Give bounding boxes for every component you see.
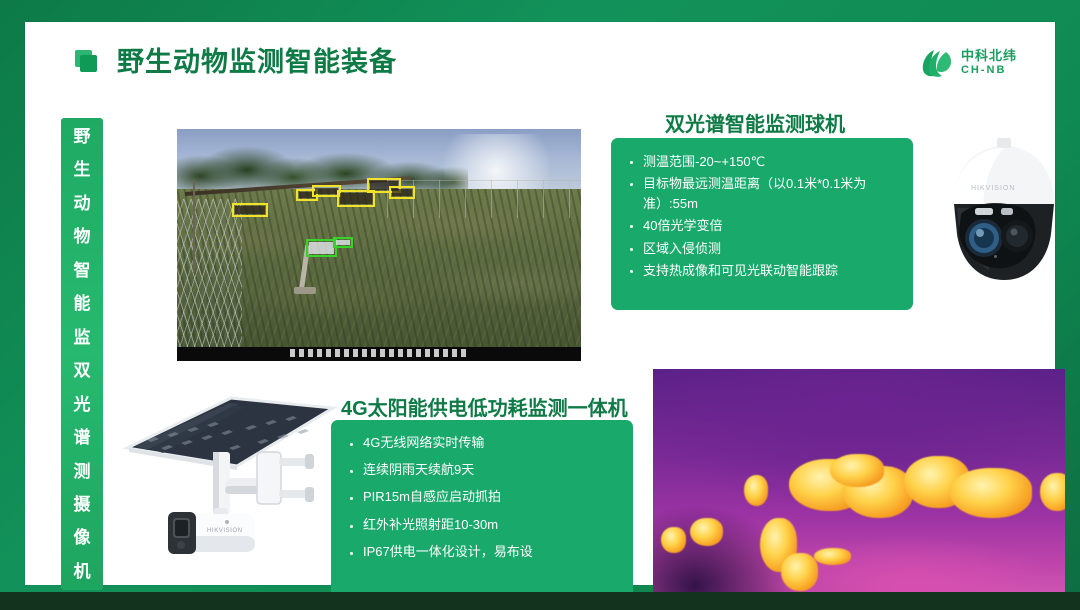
ptz-dome-camera-photo: HIKVISION [931,130,1077,316]
spec-bullet: 红外补光照射距10-30m [345,516,617,534]
spec-bullet: 支持热成像和可见光联动智能跟踪 [625,261,897,281]
svg-text:HIKVISION: HIKVISION [971,185,1015,192]
logo-text-en: CH-NB [961,64,1017,77]
ch-nb-logo-mark-icon [921,48,953,78]
thermal-caption-bar [810,593,925,600]
vertical-banner-char: 野 [74,128,91,145]
slide-card: 野生动物监测智能装备 中科北纬 CH-NB 野生动物智能监双光谱测摄像机 [25,22,1055,585]
section-title-ptz: 双光谱智能监测球机 [665,108,845,137]
vertical-banner-char: 双 [74,362,91,379]
vertical-banner-char: 测 [74,463,91,480]
thermal-imaging-photo [653,369,1065,605]
vertical-banner-char: 谱 [74,429,91,446]
spec-bullet: 目标物最远测温距离（以0.1米*0.1米为准）:55m [625,174,897,214]
vertical-banner-char: 机 [74,563,91,580]
video-caption-bar [177,347,581,361]
svg-text:HIKVISION: HIKVISION [207,528,243,534]
detection-bounding-box [389,186,415,199]
solar-camera-photo: HIKVISION [121,390,345,580]
spec-bullet: IP67供电一体化设计，易布设 [345,543,617,561]
vertical-banner-char: 生 [74,161,91,178]
spec-bullet: PIR15m自感应启动抓拍 [345,488,617,506]
vertical-banner-char: 动 [74,195,91,212]
vertical-banner-char: 智 [74,262,91,279]
spec-bullet: 40倍光学变倍 [625,216,897,236]
layers-icon [75,50,99,74]
detection-bounding-box [333,237,353,249]
slide-header: 野生动物监测智能装备 中科北纬 CH-NB [25,22,1055,94]
spec-box-ptz: 测温范围-20~+150℃目标物最远测温距离（以0.1米*0.1米为准）:55m… [611,138,913,310]
spec-bullet: 区域入侵侦测 [625,239,897,259]
vertical-banner-char: 光 [74,396,91,413]
spec-bullet: 4G无线网络实时传输 [345,434,617,452]
grassland-detection-photo [177,129,581,361]
vertical-banner-char: 物 [74,228,91,245]
detection-bounding-box [337,190,375,206]
brand-logo: 中科北纬 CH-NB [921,48,1017,78]
vertical-banner-char: 能 [74,295,91,312]
page-title: 野生动物监测智能装备 [117,40,397,79]
vertical-banner-char: 摄 [74,496,91,513]
vertical-banner: 野生动物智能监双光谱测摄像机 [61,118,103,590]
vertical-banner-char: 监 [74,329,91,346]
vertical-banner-char: 像 [74,529,91,546]
spec-bullet: 连续阴雨天续航9天 [345,461,617,479]
detection-bounding-box [232,203,268,217]
spec-box-solar: 4G无线网络实时传输连续阴雨天续航9天PIR15m自感应启动抓拍红外补光照射距1… [331,420,633,598]
spec-bullet: 测温范围-20~+150℃ [625,152,897,172]
logo-text-cn: 中科北纬 [961,49,1017,64]
section-title-solar: 4G太阳能供电低功耗监测一体机 [341,392,628,421]
slide-root: 野生动物监测智能装备 中科北纬 CH-NB 野生动物智能监双光谱测摄像机 [0,0,1080,610]
